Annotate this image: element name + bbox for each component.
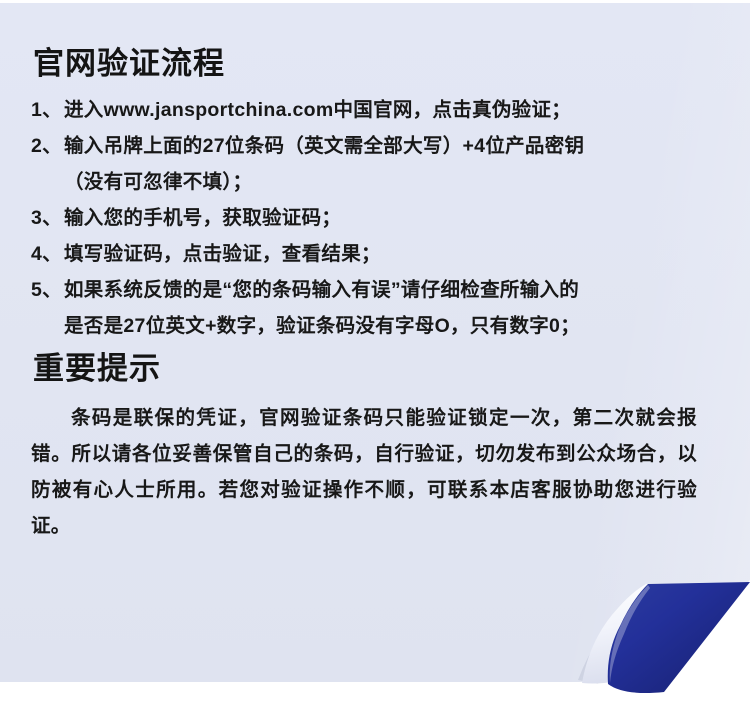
list-item-line: 如果系统反馈的是“您的条码输入有误”请仔细检查所输入的 <box>64 272 711 308</box>
page-root: 官网验证流程 1、 进入www.jansportchina.com中国官网，点击… <box>0 0 750 705</box>
important-notice-paragraph: 条码是联保的凭证，官网验证条码只能验证锁定一次，第二次就会报错。所以请各位妥善保… <box>31 400 697 544</box>
list-item-line: 输入您的手机号，获取验证码； <box>64 200 711 236</box>
list-item: 5、 如果系统反馈的是“您的条码输入有误”请仔细检查所输入的 是否是27位英文+… <box>31 272 711 344</box>
verification-step-list: 1、 进入www.jansportchina.com中国官网，点击真伪验证； 2… <box>31 92 711 344</box>
list-item-line: 填写验证码，点击验证，查看结果； <box>64 236 711 272</box>
list-item: 3、 输入您的手机号，获取验证码； <box>31 200 711 236</box>
list-item-line: 是否是27位英文+数字，验证条码没有字母O，只有数字0； <box>64 308 711 344</box>
list-item-marker: 4、 <box>31 236 62 272</box>
page-title-verification-flow: 官网验证流程 <box>33 48 225 79</box>
list-item-marker: 3、 <box>31 200 62 236</box>
list-item-line: 输入吊牌上面的27位条码（英文需全部大写）+4位产品密钥 <box>64 128 711 164</box>
list-item-marker: 5、 <box>31 272 62 308</box>
page-title-important-notice: 重要提示 <box>33 353 161 384</box>
list-item-line: （没有可忽律不填）； <box>64 164 711 200</box>
list-item-line: 进入www.jansportchina.com中国官网，点击真伪验证； <box>64 92 711 128</box>
list-item-marker: 2、 <box>31 128 62 164</box>
list-item: 2、 输入吊牌上面的27位条码（英文需全部大写）+4位产品密钥 （没有可忽律不填… <box>31 128 711 200</box>
list-item: 1、 进入www.jansportchina.com中国官网，点击真伪验证； <box>31 92 711 128</box>
list-item-marker: 1、 <box>31 92 62 128</box>
list-item: 4、 填写验证码，点击验证，查看结果； <box>31 236 711 272</box>
